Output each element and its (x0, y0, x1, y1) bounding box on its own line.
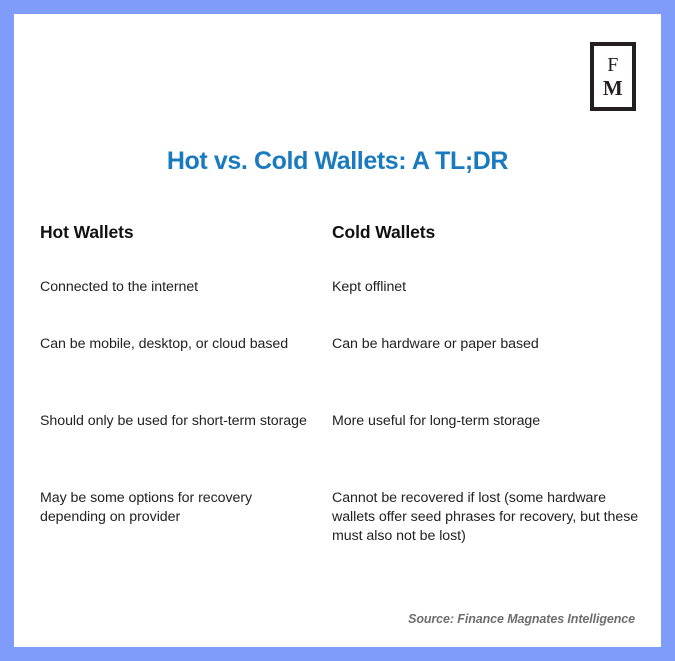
column-header-cold-wallets: Cold Wallets (332, 222, 642, 243)
source-attribution: Source: Finance Magnates Intelligence (408, 612, 635, 626)
logo-letter-f: F (607, 55, 619, 75)
table-row: Can be mobile, desktop, or cloud based C… (40, 335, 640, 412)
table-row: May be some options for recovery dependi… (40, 489, 640, 569)
column-header-hot-wallets: Hot Wallets (40, 222, 312, 243)
cell-hot-1: Can be mobile, desktop, or cloud based (40, 335, 312, 354)
comparison-table: Hot Wallets Cold Wallets Connected to th… (40, 222, 640, 569)
logo-letter-m: M (603, 78, 623, 99)
finance-magnates-logo: F M (590, 42, 636, 111)
cell-hot-2: Should only be used for short-term stora… (40, 412, 312, 431)
cell-cold-3: Cannot be recovered if lost (some hardwa… (332, 489, 642, 546)
cell-hot-0: Connected to the internet (40, 278, 312, 297)
table-row: Connected to the internet Kept offlinet (40, 278, 640, 335)
infographic-card: F M Hot vs. Cold Wallets: A TL;DR Hot Wa… (14, 14, 661, 647)
table-row: Should only be used for short-term stora… (40, 412, 640, 489)
table-header-row: Hot Wallets Cold Wallets (40, 222, 640, 278)
page-title: Hot vs. Cold Wallets: A TL;DR (14, 147, 661, 176)
cell-cold-2: More useful for long-term storage (332, 412, 642, 431)
cell-hot-3: May be some options for recovery dependi… (40, 489, 312, 527)
infographic-canvas: F M Hot vs. Cold Wallets: A TL;DR Hot Wa… (0, 0, 675, 661)
cell-cold-0: Kept offlinet (332, 278, 642, 297)
cell-cold-1: Can be hardware or paper based (332, 335, 642, 354)
